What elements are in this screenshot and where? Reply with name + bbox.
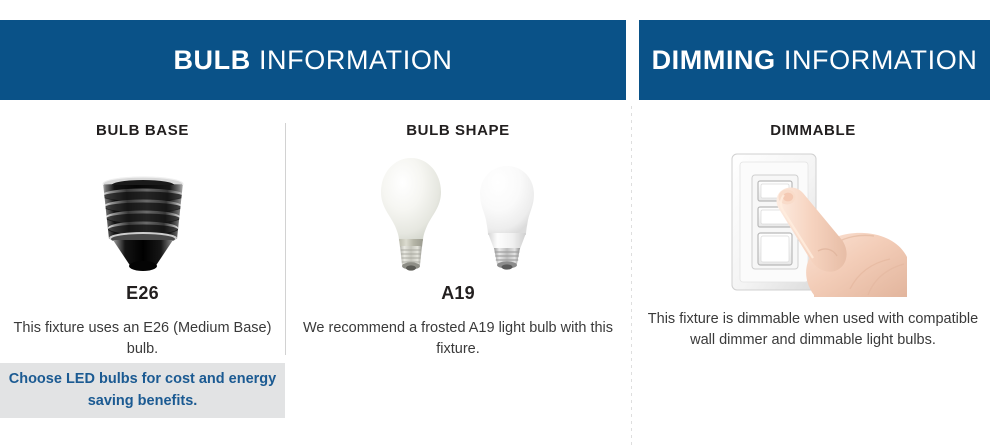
section-divider-dotted xyxy=(631,106,632,446)
bulb-shape-value: A19 xyxy=(288,283,628,304)
dimmable-heading: DIMMABLE xyxy=(636,122,990,139)
bulb-shape-heading: BULB SHAPE xyxy=(288,122,628,139)
dimming-information-header: DIMMING INFORMATION xyxy=(639,20,990,100)
bulb-base-heading: BULB BASE xyxy=(0,122,285,139)
dimmable-figure xyxy=(636,147,990,293)
dimming-information-title-rest: INFORMATION xyxy=(776,45,978,75)
led-bulb-icon xyxy=(471,163,543,273)
bulb-information-title-strong: BULB xyxy=(173,45,250,75)
hand-pressing-wall-dimmer-icon xyxy=(718,147,908,297)
bulb-information-title: BULB INFORMATION xyxy=(173,45,452,76)
dimmable-description: This fixture is dimmable when used with … xyxy=(636,309,990,351)
header-row: BULB INFORMATION DIMMING INFORMATION xyxy=(0,20,990,100)
bulb-base-column: BULB BASE xyxy=(0,112,285,360)
column-divider-solid xyxy=(285,123,286,355)
bulb-information-title-rest: INFORMATION xyxy=(251,45,453,75)
led-callout-box: Choose LED bulbs for cost and energy sav… xyxy=(0,363,285,418)
bulb-shape-figure xyxy=(288,153,628,273)
dimmable-column: DIMMABLE xyxy=(636,112,990,351)
dimming-information-title: DIMMING INFORMATION xyxy=(652,45,978,76)
frosted-incandescent-bulb-icon xyxy=(373,155,449,273)
led-callout-text: Choose LED bulbs for cost and energy sav… xyxy=(0,369,285,411)
bulb-shape-column: BULB SHAPE xyxy=(288,112,628,360)
bulb-base-figure xyxy=(0,153,285,273)
bulb-information-header: BULB INFORMATION xyxy=(0,20,626,100)
bulb-base-value: E26 xyxy=(0,283,285,304)
dimming-information-title-strong: DIMMING xyxy=(652,45,776,75)
edison-screw-base-icon xyxy=(95,171,191,273)
bulb-shape-description: We recommend a frosted A19 light bulb wi… xyxy=(288,318,628,360)
bulb-base-description: This fixture uses an E26 (Medium Base) b… xyxy=(0,318,285,360)
